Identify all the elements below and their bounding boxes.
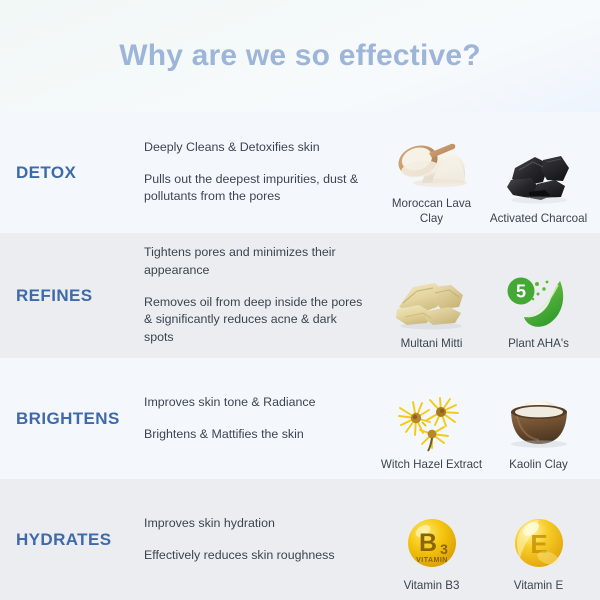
benefit-list-brightens: Improves skin tone & Radiance Brightens …: [144, 394, 378, 443]
ingredient-label: Activated Charcoal: [490, 212, 587, 227]
benefit-item: Effectively reduces skin roughness: [144, 547, 366, 565]
ingredient-item: B 3 VITAMIN Vitamin B3: [380, 489, 483, 594]
benefit-item: Brightens & Mattifies the skin: [144, 426, 366, 444]
yellow-flower-icon: [386, 390, 478, 452]
svg-text:B: B: [418, 529, 436, 557]
svg-text:3: 3: [440, 541, 448, 557]
ingredient-list-brightens: Witch Hazel Extract: [378, 358, 592, 479]
svg-text:VITAMIN: VITAMIN: [416, 557, 448, 564]
ingredient-list-detox: Moroccan Lava Clay: [378, 112, 592, 233]
benefits-infographic: Why are we so effective? DETOX Deeply Cl…: [0, 0, 600, 600]
benefit-item: Deeply Cleans & Detoxifies skin: [144, 139, 366, 157]
benefit-item: Tightens pores and minimizes their appea…: [144, 244, 366, 279]
category-label-detox: DETOX: [16, 163, 144, 183]
category-label-hydrates: HYDRATES: [16, 530, 144, 550]
header-banner: Why are we so effective?: [0, 0, 600, 112]
charcoal-chunks-icon: [493, 144, 585, 206]
ingredient-item: E Vitamin E: [487, 489, 590, 594]
clay-chunks-icon: [386, 269, 478, 331]
ingredient-label: Witch Hazel Extract: [381, 458, 482, 473]
vitamin-e-capsule-icon: E: [493, 511, 585, 573]
ingredient-item: Activated Charcoal: [487, 122, 590, 227]
category-label-brightens: BRIGHTENS: [16, 409, 144, 429]
ingredient-item: Kaolin Clay: [487, 368, 590, 473]
ingredient-item: Witch Hazel Extract: [380, 368, 483, 473]
benefit-item: Pulls out the deepest impurities, dust &…: [144, 171, 366, 206]
ingredient-list-hydrates: B 3 VITAMIN Vitamin B3: [378, 479, 592, 600]
ingredient-label: Multani Mitti: [401, 337, 463, 352]
clay-bowl-icon: [493, 390, 585, 452]
ingredient-label: Moroccan Lava Clay: [380, 197, 483, 227]
benefit-row-refines: REFINES Tightens pores and minimizes the…: [0, 233, 600, 358]
ingredient-item: Multani Mitti: [380, 243, 483, 352]
ingredient-label: Vitamin B3: [404, 579, 460, 594]
ingredient-label: Vitamin E: [514, 579, 563, 594]
benefit-item: Improves skin hydration: [144, 515, 366, 533]
benefit-row-hydrates: HYDRATES Improves skin hydration Effecti…: [0, 479, 600, 600]
benefit-row-detox: DETOX Deeply Cleans & Detoxifies skin Pu…: [0, 112, 600, 233]
benefit-item: Removes oil from deep inside the pores &…: [144, 294, 366, 347]
clay-scoop-icon: [386, 129, 478, 191]
leaf-five-icon: 5: [493, 269, 585, 331]
vitamin-b3-capsule-icon: B 3 VITAMIN: [386, 511, 478, 573]
ingredient-item: Moroccan Lava Clay: [380, 122, 483, 227]
svg-text:5: 5: [515, 282, 525, 302]
benefit-list-detox: Deeply Cleans & Detoxifies skin Pulls ou…: [144, 139, 378, 206]
benefit-list-hydrates: Improves skin hydration Effectively redu…: [144, 515, 378, 564]
ingredient-item: 5 Plant AHA's: [487, 243, 590, 352]
ingredient-list-refines: Multani Mitti 5: [378, 233, 592, 358]
benefit-item: Improves skin tone & Radiance: [144, 394, 366, 412]
category-label-refines: REFINES: [16, 286, 144, 306]
page-title: Why are we so effective?: [119, 39, 481, 73]
benefit-row-brightens: BRIGHTENS Improves skin tone & Radiance …: [0, 358, 600, 479]
ingredient-label: Plant AHA's: [508, 337, 569, 352]
ingredient-label: Kaolin Clay: [509, 458, 568, 473]
benefit-list-refines: Tightens pores and minimizes their appea…: [144, 244, 378, 346]
